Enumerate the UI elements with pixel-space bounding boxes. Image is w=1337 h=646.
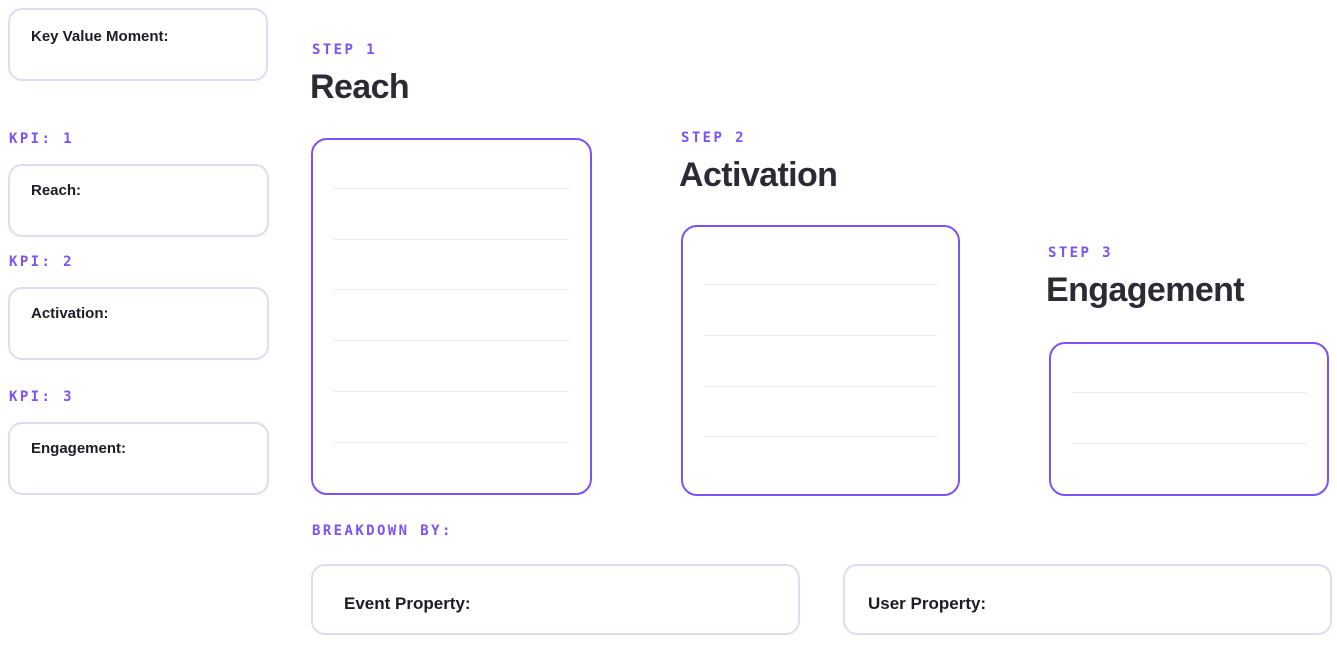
- kpi-3-box[interactable]: Engagement:: [8, 422, 269, 495]
- note-rule: [334, 188, 569, 189]
- kpi-1-caption: KPI: 1: [9, 132, 74, 146]
- breakdown-by-caption: BREAKDOWN BY:: [312, 524, 453, 538]
- note-rule: [334, 391, 569, 392]
- note-rule: [334, 239, 569, 240]
- step-1-title: Reach: [310, 70, 409, 104]
- user-property-box[interactable]: User Property:: [843, 564, 1332, 635]
- step-1-caption: STEP 1: [312, 43, 377, 57]
- step-2-note-card[interactable]: [681, 225, 960, 496]
- key-value-moment-label: Key Value Moment:: [31, 29, 169, 44]
- user-property-label: User Property:: [868, 595, 986, 612]
- kpi-3-caption: KPI: 3: [9, 390, 74, 404]
- event-property-label: Event Property:: [344, 595, 471, 612]
- step-2-caption: STEP 2: [681, 131, 746, 145]
- note-rule: [704, 386, 937, 387]
- note-rule: [704, 436, 937, 437]
- note-rule: [1072, 443, 1306, 444]
- note-rule: [334, 442, 569, 443]
- step-3-caption: STEP 3: [1048, 246, 1113, 260]
- key-value-moment-box[interactable]: Key Value Moment:: [8, 8, 268, 81]
- note-rule: [334, 289, 569, 290]
- kpi-2-box[interactable]: Activation:: [8, 287, 269, 360]
- note-rule: [704, 335, 937, 336]
- kpi-2-label: Activation:: [31, 306, 109, 321]
- note-rule: [704, 284, 937, 285]
- note-rule: [334, 340, 569, 341]
- kpi-1-box[interactable]: Reach:: [8, 164, 269, 237]
- event-property-box[interactable]: Event Property:: [311, 564, 800, 635]
- kpi-2-caption: KPI: 2: [9, 255, 74, 269]
- step-3-title: Engagement: [1046, 273, 1244, 307]
- kpi-3-label: Engagement:: [31, 441, 126, 456]
- step-2-title: Activation: [679, 158, 837, 192]
- kpi-1-label: Reach:: [31, 183, 81, 198]
- step-3-note-card[interactable]: [1049, 342, 1329, 496]
- step-1-note-card[interactable]: [311, 138, 592, 495]
- note-rule: [1072, 392, 1306, 393]
